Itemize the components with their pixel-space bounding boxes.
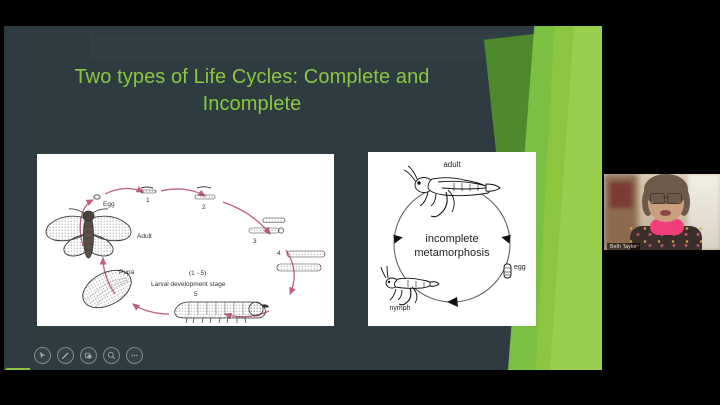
- pointer-icon[interactable]: [34, 347, 51, 364]
- egg-label: egg: [514, 264, 526, 271]
- stage-range-label: (1 - 5): [189, 270, 206, 277]
- participant-glasses: [650, 193, 682, 202]
- annotation-toolbar[interactable]: [34, 347, 143, 364]
- incomplete-line2: metamorphosis: [414, 247, 490, 259]
- glasses-lens-right: [667, 193, 682, 204]
- video-feed: [604, 174, 720, 250]
- background-picture: [610, 182, 632, 208]
- adult-label: adult: [443, 160, 461, 169]
- incomplete-metamorphosis-svg: incomplete metamorphosis: [368, 152, 536, 326]
- adult-label: Adult: [137, 233, 152, 240]
- instar-1-label: 1: [146, 197, 150, 204]
- corner-accent-square: [8, 342, 34, 368]
- incomplete-line1: incomplete: [425, 233, 478, 245]
- larval-stage-caption: Larval development stage: [151, 281, 226, 288]
- stamp-icon[interactable]: [80, 347, 97, 364]
- pupa-label: Pupa: [119, 269, 135, 276]
- stage-5-label: 5: [194, 291, 198, 298]
- slide-title: Two types of Life Cycles: Complete and I…: [26, 64, 478, 118]
- egg-illustration: [504, 264, 511, 278]
- instar-4-label: 4: [277, 250, 281, 257]
- participant-video-tile[interactable]: Beth Taylor: [604, 168, 720, 256]
- participant-name-label: Beth Taylor: [607, 243, 640, 252]
- more-options-icon[interactable]: [126, 347, 143, 364]
- complete-metamorphosis-card: Egg 1 2 3: [37, 154, 334, 326]
- participant-mouth: [660, 210, 671, 216]
- glasses-lens-left: [650, 193, 665, 204]
- egg-illustration: [94, 195, 100, 199]
- zoom-icon[interactable]: [103, 347, 120, 364]
- complete-metamorphosis-svg: Egg 1 2 3: [37, 154, 334, 326]
- incomplete-metamorphosis-card: incomplete metamorphosis: [368, 152, 536, 326]
- presentation-slide: Two types of Life Cycles: Complete and I…: [4, 26, 602, 370]
- screen-root: Two types of Life Cycles: Complete and I…: [0, 0, 720, 405]
- header-texture-band: [90, 34, 518, 59]
- instar-3-label: 3: [253, 238, 257, 245]
- nymph-label: nymph: [389, 305, 410, 312]
- egg-label: Egg: [103, 201, 115, 208]
- pen-icon[interactable]: [57, 347, 74, 364]
- instar-2-label: 2: [202, 204, 206, 211]
